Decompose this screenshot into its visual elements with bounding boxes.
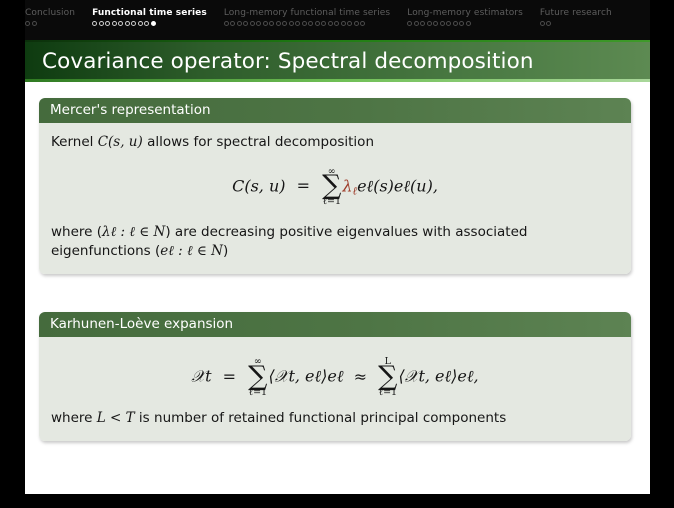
equation-equals: =	[297, 176, 310, 195]
nav-dot[interactable]	[269, 21, 274, 26]
sum-lower-limit: ℓ=1	[249, 388, 268, 398]
nav-dot[interactable]	[347, 21, 352, 26]
note-2-after: )	[223, 243, 228, 259]
nav-dot[interactable]	[540, 21, 545, 26]
title-bar-top-edge	[25, 40, 650, 42]
summation-operator-truncated: L ∑ ℓ=1	[378, 357, 397, 397]
nav-dot[interactable]	[295, 21, 300, 26]
nav-dot[interactable]	[263, 21, 268, 26]
nav-dot[interactable]	[321, 21, 326, 26]
equation-inner-product-term-2: ⟨𝒳t, eℓ⟩eℓ,	[398, 367, 478, 386]
nav-dot[interactable]	[92, 21, 97, 26]
kl-note-after: is number of retained functional princip…	[135, 410, 507, 426]
note-2-math: eℓ : ℓ ∈ Ν	[160, 243, 223, 259]
nav-dot[interactable]	[118, 21, 123, 26]
page-title: Covariance operator: Spectral decomposit…	[25, 49, 534, 74]
nav-dot[interactable]	[433, 21, 438, 26]
nav-dot[interactable]	[341, 21, 346, 26]
nav-dot[interactable]	[360, 21, 365, 26]
block-mercer-representation: Mercer's representation Kernel C(s, u) a…	[39, 98, 631, 274]
nav-dot[interactable]	[407, 21, 412, 26]
nav-dot[interactable]	[440, 21, 445, 26]
sum-lower-limit: ℓ=1	[379, 388, 398, 398]
nav-dot[interactable]	[256, 21, 261, 26]
nav-section-label: Long-memory estimators	[407, 9, 523, 18]
nav-section-label: Functional time series	[92, 9, 207, 18]
nav-dot[interactable]	[144, 21, 149, 26]
nav-section-future-research[interactable]: Future research	[540, 9, 612, 26]
nav-dot[interactable]	[446, 21, 451, 26]
nav-dot[interactable]	[243, 21, 248, 26]
kl-note-before: where	[51, 410, 97, 426]
slide-title-bar: Covariance operator: Spectral decomposit…	[25, 40, 650, 82]
equation-lhs: C(s, u)	[232, 176, 285, 195]
summation-operator-infinite: ∞ ∑ ℓ=1	[248, 357, 267, 397]
equation-approx: ≈	[354, 367, 367, 386]
sigma-icon: ∑	[378, 366, 397, 388]
nav-section-conclusion[interactable]: Conclusion	[25, 9, 75, 26]
equation-equals: =	[223, 367, 236, 386]
nav-section-long-memory-functional-time-series[interactable]: Long-memory functional time series	[224, 9, 390, 26]
nav-dot[interactable]	[308, 21, 313, 26]
nav-dot[interactable]	[427, 21, 432, 26]
nav-section-dots	[92, 21, 156, 26]
nav-dot[interactable]	[131, 21, 136, 26]
mercer-note-line-1: where (λℓ : ℓ ∈ Ν) are decreasing positi…	[51, 223, 619, 243]
note-1-before: where (	[51, 224, 102, 240]
nav-dot[interactable]	[466, 21, 471, 26]
mercer-note-line-2: eigenfunctions (eℓ : ℓ ∈ Ν)	[51, 242, 619, 262]
nav-dot[interactable]	[125, 21, 130, 26]
nav-dot[interactable]	[414, 21, 419, 26]
note-1-after: ) are decreasing positive eigenvalues wi…	[165, 224, 527, 240]
block-body: Kernel C(s, u) allows for spectral decom…	[39, 123, 631, 274]
note-2-before: eigenfunctions (	[51, 243, 160, 259]
nav-dot[interactable]	[328, 21, 333, 26]
nav-dot[interactable]	[420, 21, 425, 26]
nav-dot[interactable]	[224, 21, 229, 26]
mercer-equation: C(s, u) = ∞ ∑ ℓ=1 λℓeℓ(s)eℓ(u),	[51, 167, 619, 207]
nav-dot-current[interactable]	[151, 21, 156, 26]
mercer-intro-before: Kernel	[51, 134, 98, 150]
nav-dot[interactable]	[237, 21, 242, 26]
nav-dot[interactable]	[315, 21, 320, 26]
equation-lhs: 𝒳t	[191, 367, 211, 386]
mercer-intro-math: C(s, u)	[98, 134, 143, 150]
block-karhunen-loeve-expansion: Karhunen-Loève expansion 𝒳t = ∞ ∑ ℓ=1 ⟨𝒳…	[39, 312, 631, 441]
nav-dot[interactable]	[25, 21, 30, 26]
block-title: Karhunen-Loève expansion	[39, 312, 631, 337]
sigma-icon: ∑	[248, 366, 267, 388]
note-1-math: λℓ : ℓ ∈ Ν	[102, 224, 165, 240]
kl-equation: 𝒳t = ∞ ∑ ℓ=1 ⟨𝒳t, eℓ⟩eℓ ≈ L ∑ ℓ=1 ⟨𝒳t, e…	[51, 357, 619, 397]
block-body: 𝒳t = ∞ ∑ ℓ=1 ⟨𝒳t, eℓ⟩eℓ ≈ L ∑ ℓ=1 ⟨𝒳t, e…	[39, 337, 631, 441]
equation-eigenfunction-term: eℓ(s)eℓ(u),	[357, 176, 438, 195]
equation-inner-product-term-1: ⟨𝒳t, eℓ⟩eℓ	[268, 367, 343, 386]
nav-dot[interactable]	[138, 21, 143, 26]
nav-dot[interactable]	[32, 21, 37, 26]
nav-dot[interactable]	[546, 21, 551, 26]
nav-dot[interactable]	[250, 21, 255, 26]
nav-section-dots	[25, 21, 37, 26]
mercer-intro-after: allows for spectral decomposition	[143, 134, 374, 150]
navigation-bar: Conclusion Functional time series	[25, 0, 650, 40]
nav-dot[interactable]	[112, 21, 117, 26]
sum-lower-limit: ℓ=1	[322, 197, 341, 207]
equation-lambda-highlight: λ	[342, 176, 352, 195]
nav-dot[interactable]	[99, 21, 104, 26]
nav-section-label: Future research	[540, 9, 612, 18]
block-title: Mercer's representation	[39, 98, 631, 123]
nav-dot[interactable]	[289, 21, 294, 26]
kl-note-line: where L < T is number of retained functi…	[51, 409, 619, 429]
nav-section-label: Conclusion	[25, 9, 75, 18]
nav-dot[interactable]	[276, 21, 281, 26]
sigma-icon: ∑	[322, 175, 341, 197]
nav-dot[interactable]	[230, 21, 235, 26]
nav-section-label: Long-memory functional time series	[224, 9, 390, 18]
nav-dot[interactable]	[453, 21, 458, 26]
nav-dot[interactable]	[334, 21, 339, 26]
slide: Conclusion Functional time series	[25, 0, 650, 494]
nav-dot[interactable]	[282, 21, 287, 26]
nav-section-dots	[224, 21, 366, 26]
mercer-intro-line: Kernel C(s, u) allows for spectral decom…	[51, 133, 619, 153]
nav-section-dots	[407, 21, 471, 26]
slide-content: Mercer's representation Kernel C(s, u) a…	[25, 82, 650, 494]
nav-dot[interactable]	[105, 21, 110, 26]
nav-section-long-memory-estimators[interactable]: Long-memory estimators	[407, 9, 523, 26]
kl-note-math: L < T	[97, 410, 135, 426]
nav-section-dots	[540, 21, 552, 26]
nav-dot[interactable]	[459, 21, 464, 26]
nav-dot[interactable]	[354, 21, 359, 26]
summation-operator: ∞ ∑ ℓ=1	[322, 167, 341, 207]
nav-section-functional-time-series[interactable]: Functional time series	[92, 9, 207, 26]
nav-dot[interactable]	[302, 21, 307, 26]
